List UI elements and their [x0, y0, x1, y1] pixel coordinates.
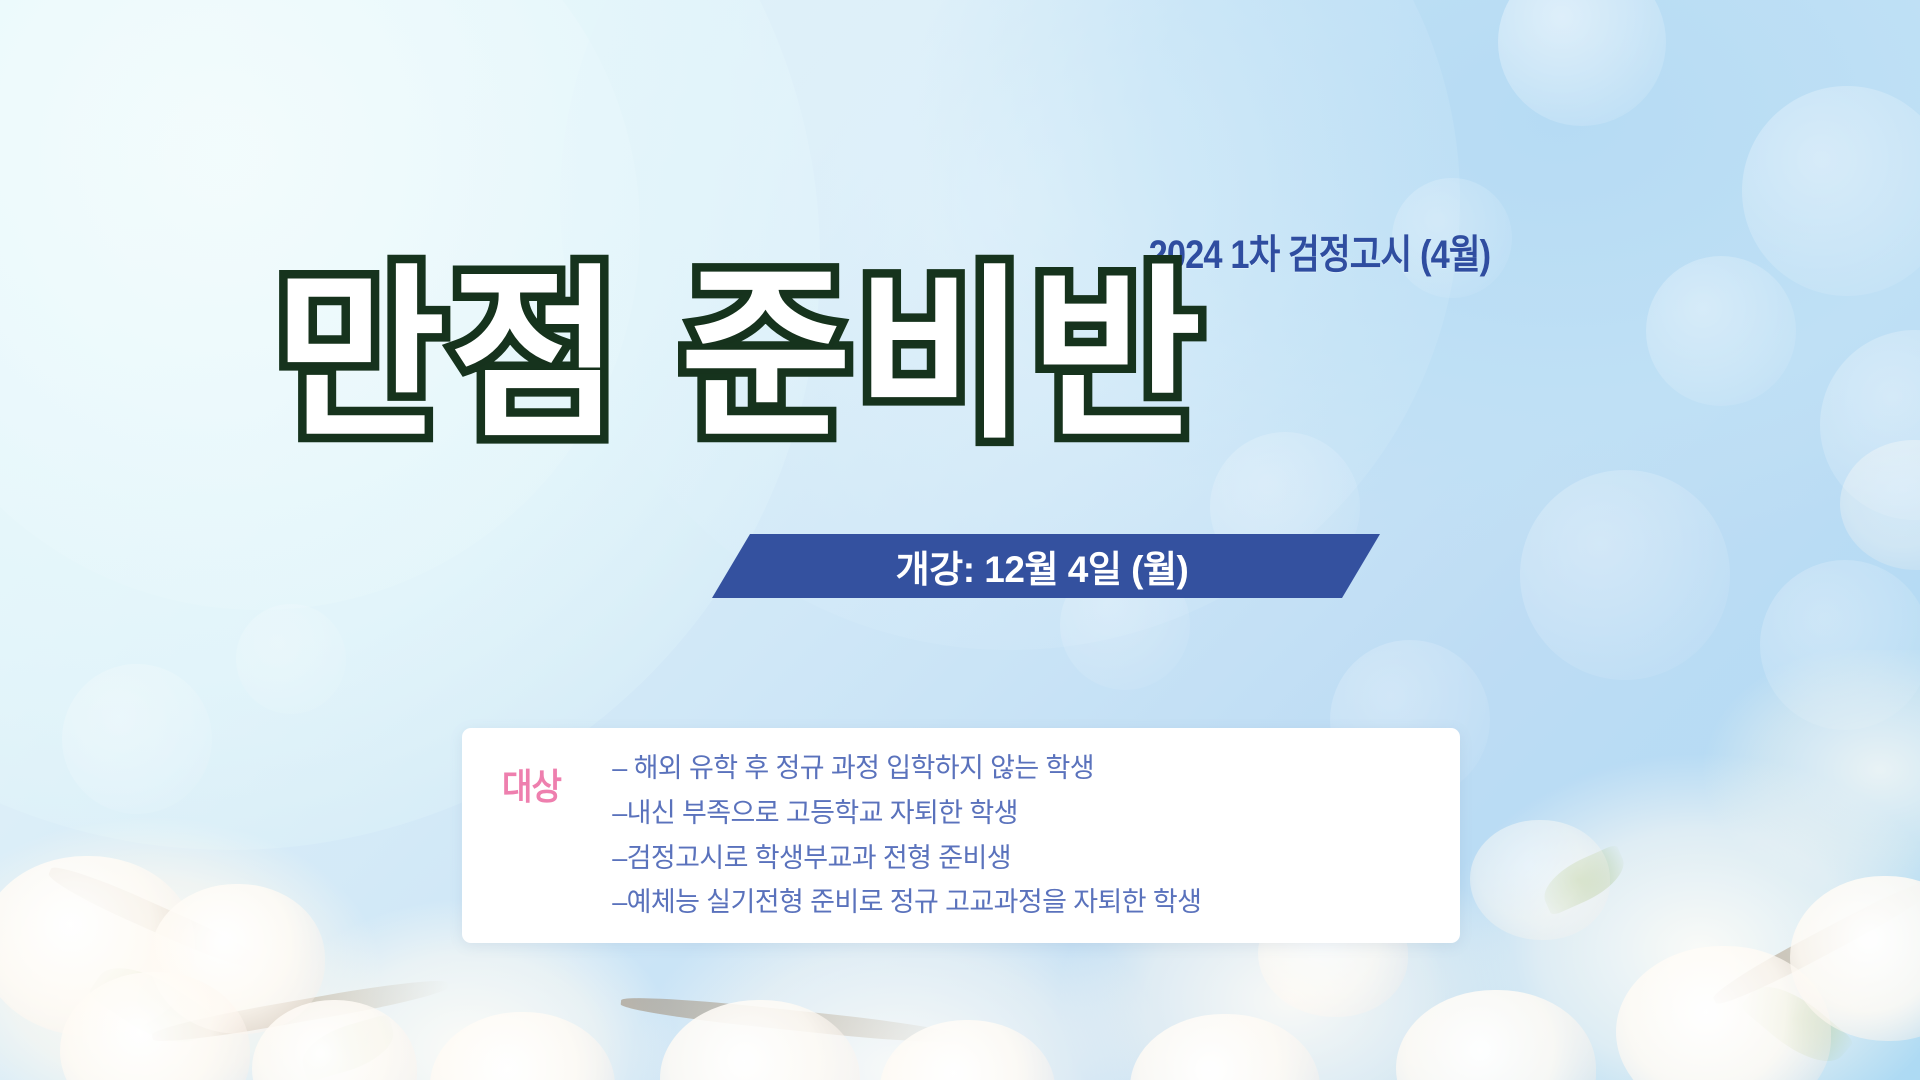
blossom-petal — [1616, 946, 1831, 1080]
start-date-text: 개강: 12월 4일 (월) — [896, 539, 1189, 593]
target-audience-card: 대상 – 해외 유학 후 정규 과정 입학하지 않는 학생 –내신 부족으로 고… — [462, 728, 1460, 943]
blossom-petal — [150, 884, 325, 1034]
list-item: –내신 부족으로 고등학교 자퇴한 학생 — [612, 791, 1201, 836]
blossom-petal — [60, 972, 250, 1080]
bokeh-circle — [1646, 256, 1796, 406]
blossom-branch — [45, 859, 266, 976]
blossom-petal — [252, 1000, 417, 1080]
blossom-petal — [660, 1000, 860, 1080]
banner-title: 만점 준비반 — [0, 258, 1480, 455]
list-item: –예체능 실기전형 준비로 정규 고교과정을 자퇴한 학생 — [612, 880, 1201, 925]
blossom-leaf — [296, 1014, 400, 1080]
bokeh-circle — [1820, 330, 1920, 520]
blossom-leaf — [87, 950, 215, 1061]
blossom-petal — [430, 1012, 615, 1080]
bokeh-circle — [236, 604, 346, 714]
list-item: – 해외 유학 후 정규 과정 입학하지 않는 학생 — [612, 746, 1201, 791]
bokeh-circle — [1742, 86, 1920, 296]
promo-banner: 2024 1차 검정고시 (4월) 만점 준비반 개강: 12월 4일 (월) … — [0, 0, 1920, 1080]
bokeh-circle — [62, 664, 212, 814]
start-date-banner: 개강: 12월 4일 (월) — [712, 534, 1380, 598]
blossom-petal — [1470, 820, 1610, 940]
bokeh-circle — [1760, 560, 1920, 730]
blossom-petal — [1396, 990, 1596, 1080]
blossom-leaf — [1536, 844, 1633, 916]
blossom-petal — [880, 1020, 1055, 1080]
blossom-petal — [1790, 876, 1920, 1041]
target-audience-label: 대상 — [502, 758, 561, 810]
blossom-branch — [150, 974, 449, 1048]
bokeh-circle — [1520, 470, 1730, 680]
blossom-leaf — [1739, 970, 1854, 1077]
bokeh-circle — [1498, 0, 1666, 126]
target-audience-list: – 해외 유학 후 정규 과정 입학하지 않는 학생 –내신 부족으로 고등학교… — [612, 746, 1201, 925]
blossom-petal — [1840, 440, 1920, 570]
blossom-branch — [620, 992, 960, 1047]
list-item: –검정고시로 학생부교과 전형 준비생 — [612, 836, 1201, 881]
blossom-branch — [1709, 873, 1920, 1012]
blossom-petal — [0, 856, 195, 1036]
blossom-petal — [1130, 1014, 1320, 1080]
